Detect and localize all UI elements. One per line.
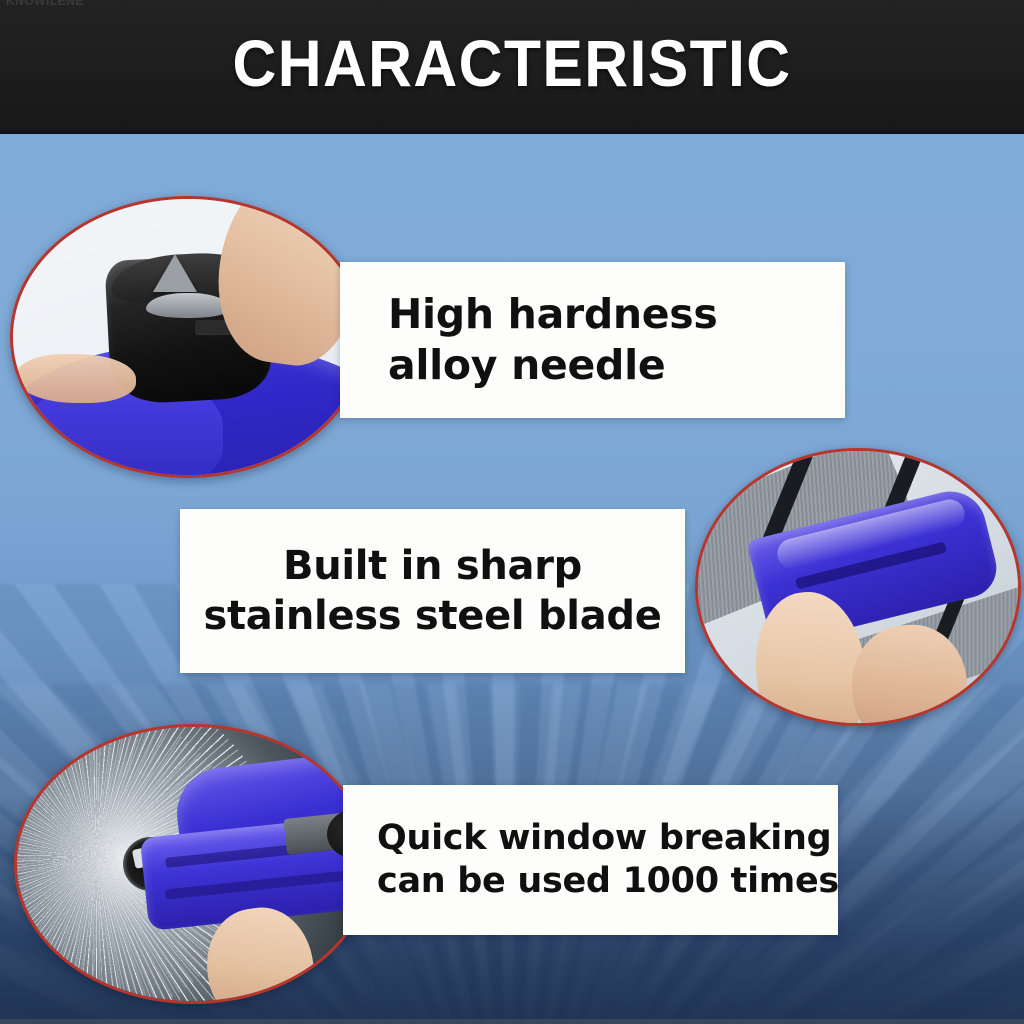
callout-1-line-1: High hardness [388,289,845,340]
photo-alloy-needle [10,196,366,478]
product-infographic-poster: KNOWILENE CHARACTERISTIC High hardness a… [0,0,1024,1024]
callout-2-line-2: stainless steel blade [180,591,685,641]
page-title: CHARACTERISTIC [41,30,983,96]
callout-box-window-breaking: Quick window breaking can be used 1000 t… [343,785,838,935]
finger-icon [17,354,136,404]
alloy-needle-base-icon [146,293,230,318]
callout-box-alloy-needle: High hardness alloy needle [340,262,845,418]
brand-watermark-text: KNOWILENE [6,0,84,8]
callout-1-line-2: alloy needle [388,340,845,391]
callout-3-line-2: can be used 1000 times [377,860,838,903]
bottom-edge-strip [0,1019,1024,1024]
photo-window-breaking [14,724,372,1004]
callout-box-steel-blade: Built in sharp stainless steel blade [180,509,685,673]
photo-alloy-needle-content [13,199,363,475]
photo-seatbelt-blade [695,448,1021,726]
photo-window-breaking-content [17,727,369,1001]
header-band: KNOWILENE CHARACTERISTIC [0,0,1024,134]
callout-3-line-1: Quick window breaking [377,817,838,860]
alloy-needle-icon [153,254,197,292]
callout-2-line-1: Built in sharp [180,541,685,591]
photo-seatbelt-blade-content [698,451,1018,723]
